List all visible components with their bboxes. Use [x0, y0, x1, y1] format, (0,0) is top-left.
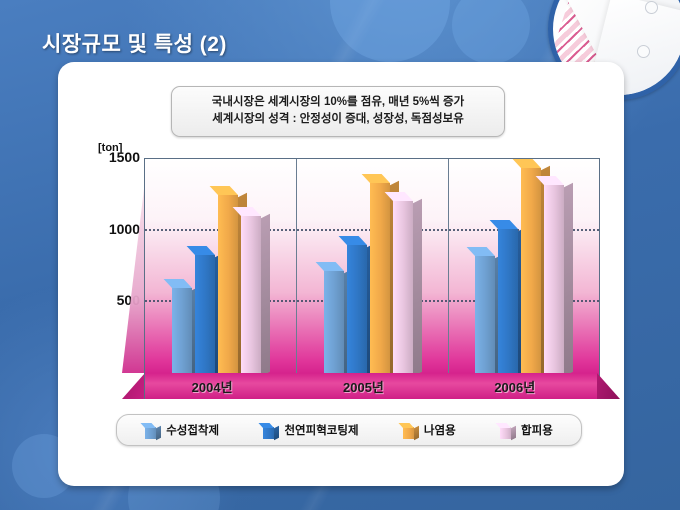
- bar-나염용-2004년: [218, 195, 238, 374]
- chart-floor-right: [597, 373, 620, 399]
- y-axis-tick-1500: 1500: [80, 149, 140, 165]
- bar-top: [315, 262, 343, 271]
- shirt-button: [645, 1, 658, 14]
- bar-front: [498, 229, 518, 374]
- bar-천연피혁코팅제-2004년: [195, 255, 215, 374]
- bar-천연피혁코팅제-2006년: [498, 229, 518, 374]
- bar-front: [241, 216, 261, 374]
- legend-label: 합피용: [521, 422, 553, 438]
- bar-top: [164, 279, 192, 288]
- legend-label: 수성접착제: [166, 422, 219, 438]
- swatch-side: [156, 426, 161, 440]
- bar-천연피혁코팅제-2005년: [347, 245, 367, 374]
- swatch-top: [259, 423, 275, 428]
- bar-front: [347, 245, 367, 374]
- callout-box: 국내시장은 세계시장의 10%를 점유, 매년 5%씩 증가 세계시장의 성격 …: [171, 86, 505, 137]
- bar-front: [218, 195, 238, 374]
- bar-나염용-2005년: [370, 183, 390, 374]
- swatch-front: [263, 427, 274, 439]
- slide-root: 시장규모 및 특성 (2) 국내시장은 세계시장의 10%를 점유, 매년 5%…: [0, 0, 680, 510]
- bar-front: [370, 183, 390, 374]
- swatch-front: [145, 427, 156, 439]
- legend-swatch-icon: [263, 424, 278, 439]
- bar-front: [544, 185, 564, 374]
- background-circle: [330, 0, 450, 62]
- bar-합피용-2004년: [241, 216, 261, 374]
- bar-front: [172, 288, 192, 374]
- bar-수성접착제-2004년: [172, 288, 192, 374]
- legend-item-나염용[interactable]: 나염용: [403, 421, 456, 439]
- swatch-top: [141, 423, 157, 428]
- bar-수성접착제-2006년: [475, 256, 495, 374]
- bar-top: [210, 186, 238, 195]
- swatch-front: [500, 427, 511, 439]
- shirt-button: [637, 45, 650, 58]
- bar-side: [413, 198, 422, 376]
- bar-front: [324, 271, 344, 374]
- group-divider: [448, 159, 449, 374]
- legend-swatch-icon: [500, 424, 515, 439]
- bar-front: [393, 201, 413, 374]
- bar-top: [187, 246, 215, 255]
- legend-swatch-icon: [145, 424, 160, 439]
- x-axis-label-2006년: 2006년: [494, 377, 535, 396]
- legend-label: 나염용: [424, 422, 456, 438]
- callout-line-1: 국내시장은 세계시장의 10%를 점유, 매년 5%씩 증가: [182, 94, 494, 111]
- y-axis-tick-1000: 1000: [80, 221, 140, 237]
- page-title: 시장규모 및 특성 (2): [42, 28, 227, 58]
- bar-side: [564, 183, 573, 377]
- callout-line-2: 세계시장의 성격 : 안정성이 증대, 성장성, 독점성보유: [182, 111, 494, 128]
- legend-swatch-icon: [403, 424, 418, 439]
- bar-합피용-2005년: [393, 201, 413, 374]
- legend-label: 천연피혁코팅제: [284, 422, 358, 438]
- swatch-front: [403, 427, 414, 439]
- chart-legend: 수성접착제천연피혁코팅제나염용합피용: [116, 414, 582, 446]
- bar-나염용-2006년: [521, 168, 541, 374]
- bar-side: [261, 214, 270, 376]
- content-panel: 국내시장은 세계시장의 10%를 점유, 매년 5%씩 증가 세계시장의 성격 …: [58, 62, 624, 486]
- bar-수성접착제-2005년: [324, 271, 344, 374]
- bar-합피용-2006년: [544, 185, 564, 374]
- bar-front: [195, 255, 215, 374]
- swatch-top: [398, 423, 414, 428]
- background-circle: [452, 0, 530, 64]
- legend-item-천연피혁코팅제[interactable]: 천연피혁코팅제: [263, 421, 358, 439]
- plot-area: [144, 158, 600, 374]
- legend-item-합피용[interactable]: 합피용: [500, 421, 553, 439]
- bar-top: [466, 247, 494, 256]
- group-divider: [296, 159, 297, 374]
- bar-front: [475, 256, 495, 374]
- bar-top: [338, 236, 366, 245]
- x-axis-label-2005년: 2005년: [343, 377, 384, 396]
- bar-top: [361, 174, 389, 183]
- x-axis-label-2004년: 2004년: [192, 377, 233, 396]
- bar-top: [512, 159, 540, 168]
- bar-front: [521, 168, 541, 374]
- legend-item-수성접착제[interactable]: 수성접착제: [145, 421, 219, 439]
- swatch-top: [496, 423, 512, 428]
- swatch-side: [274, 426, 279, 440]
